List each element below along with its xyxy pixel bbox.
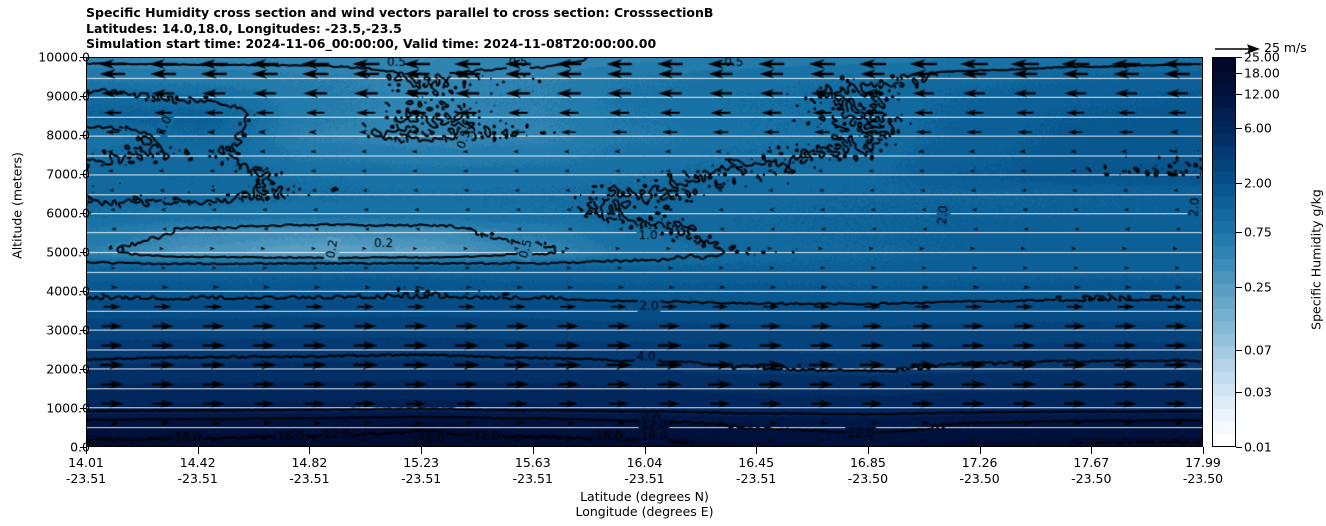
x-tick-label: 16.04-23.51 [585, 455, 705, 487]
x-tick-label: 15.23-23.51 [361, 455, 481, 487]
colorbar-tick-mark [1236, 57, 1242, 58]
colorbar [1212, 57, 1236, 447]
x-tick-latitude: 16.85 [808, 455, 928, 471]
x-tick-mark [86, 447, 87, 454]
colorbar-tick-label: 2.00 [1244, 175, 1272, 190]
colorbar-tick-label: 0.03 [1244, 385, 1272, 400]
x-tick-label: 16.45-23.51 [696, 455, 816, 487]
y-tick-label: 5000.0 [0, 245, 90, 260]
x-tick-latitude: 17.67 [1031, 455, 1151, 471]
colorbar-tick-mark [1236, 128, 1242, 129]
title-line-3: Simulation start time: 2024-11-06_00:00:… [86, 36, 1226, 52]
colorbar-tick-mark [1236, 183, 1242, 184]
colorbar-tick-label: 0.07 [1244, 343, 1272, 358]
colorbar-tick-mark [1236, 94, 1242, 95]
colorbar-gradient [1213, 58, 1235, 446]
y-tick-label: 4000.0 [0, 284, 90, 299]
cross-section-plot-axes [86, 57, 1203, 447]
x-tick-mark [868, 447, 869, 454]
x-tick-mark [1091, 447, 1092, 454]
colorbar-tick-mark [1236, 350, 1242, 351]
colorbar-tick-label: 0.75 [1244, 224, 1272, 239]
x-tick-label: 17.99-23.50 [1143, 455, 1263, 487]
y-tick-label: 8000.0 [0, 128, 90, 143]
x-tick-latitude: 16.04 [585, 455, 705, 471]
x-tick-label: 14.01-23.51 [26, 455, 146, 487]
y-tick-label: 2000.0 [0, 362, 90, 377]
chart-title: Specific Humidity cross section and wind… [86, 5, 1226, 52]
x-tick-longitude: -23.50 [1031, 471, 1151, 487]
humidity-contour-canvas [87, 58, 1202, 446]
x-tick-mark [1203, 447, 1204, 454]
x-tick-longitude: -23.50 [920, 471, 1040, 487]
x-tick-latitude: 17.99 [1143, 455, 1263, 471]
x-tick-longitude: -23.50 [808, 471, 928, 487]
x-tick-mark [645, 447, 646, 454]
colorbar-tick-label: 0.01 [1244, 440, 1272, 455]
x-tick-longitude: -23.51 [585, 471, 705, 487]
figure-canvas: Specific Humidity cross section and wind… [0, 0, 1326, 526]
x-tick-mark [756, 447, 757, 454]
x-tick-longitude: -23.51 [26, 471, 146, 487]
y-tick-label: 3000.0 [0, 323, 90, 338]
x-tick-mark [980, 447, 981, 454]
title-line-1: Specific Humidity cross section and wind… [86, 5, 1226, 21]
x-tick-latitude: 14.42 [138, 455, 258, 471]
colorbar-tick-label: 25.00 [1244, 50, 1280, 65]
colorbar-tick-mark [1236, 447, 1242, 448]
colorbar-tick-mark [1236, 392, 1242, 393]
colorbar-tick-label: 12.00 [1244, 86, 1280, 101]
x-tick-mark [198, 447, 199, 454]
x-tick-label: 17.26-23.50 [920, 455, 1040, 487]
x-tick-latitude: 14.01 [26, 455, 146, 471]
x-tick-longitude: -23.51 [249, 471, 369, 487]
y-tick-label: 6000.0 [0, 206, 90, 221]
y-tick-label: 0.0 [0, 440, 90, 455]
x-tick-label: 14.42-23.51 [138, 455, 258, 487]
x-tick-longitude: -23.51 [473, 471, 593, 487]
x-tick-latitude: 14.82 [249, 455, 369, 471]
y-tick-label: 7000.0 [0, 167, 90, 182]
x-tick-mark [533, 447, 534, 454]
x-tick-longitude: -23.51 [138, 471, 258, 487]
x-tick-label: 15.63-23.51 [473, 455, 593, 487]
x-tick-longitude: -23.50 [1143, 471, 1263, 487]
x-tick-longitude: -23.51 [696, 471, 816, 487]
y-tick-label: 10000.0 [0, 50, 90, 65]
x-axis-label-longitude: Longitude (degrees E) [86, 504, 1203, 519]
x-tick-longitude: -23.51 [361, 471, 481, 487]
y-tick-label: 9000.0 [0, 89, 90, 104]
colorbar-tick-label: 0.25 [1244, 279, 1272, 294]
x-axis-label-latitude: Latitude (degrees N) [86, 489, 1203, 504]
colorbar-tick-mark [1236, 73, 1242, 74]
colorbar-tick-mark [1236, 232, 1242, 233]
colorbar-tick-mark [1236, 287, 1242, 288]
colorbar-tick-label: 18.00 [1244, 66, 1280, 81]
x-tick-label: 17.67-23.50 [1031, 455, 1151, 487]
title-line-2: Latitudes: 14.0,18.0, Longitudes: -23.5,… [86, 21, 1226, 37]
colorbar-tick-label: 6.00 [1244, 121, 1272, 136]
x-tick-latitude: 16.45 [696, 455, 816, 471]
x-tick-latitude: 17.26 [920, 455, 1040, 471]
colorbar-label: Specific Humidity g/kg [1309, 140, 1324, 380]
x-tick-latitude: 15.63 [473, 455, 593, 471]
x-tick-latitude: 15.23 [361, 455, 481, 471]
y-tick-label: 1000.0 [0, 401, 90, 416]
x-tick-mark [421, 447, 422, 454]
x-tick-label: 16.85-23.50 [808, 455, 928, 487]
x-tick-label: 14.82-23.51 [249, 455, 369, 487]
x-tick-mark [309, 447, 310, 454]
